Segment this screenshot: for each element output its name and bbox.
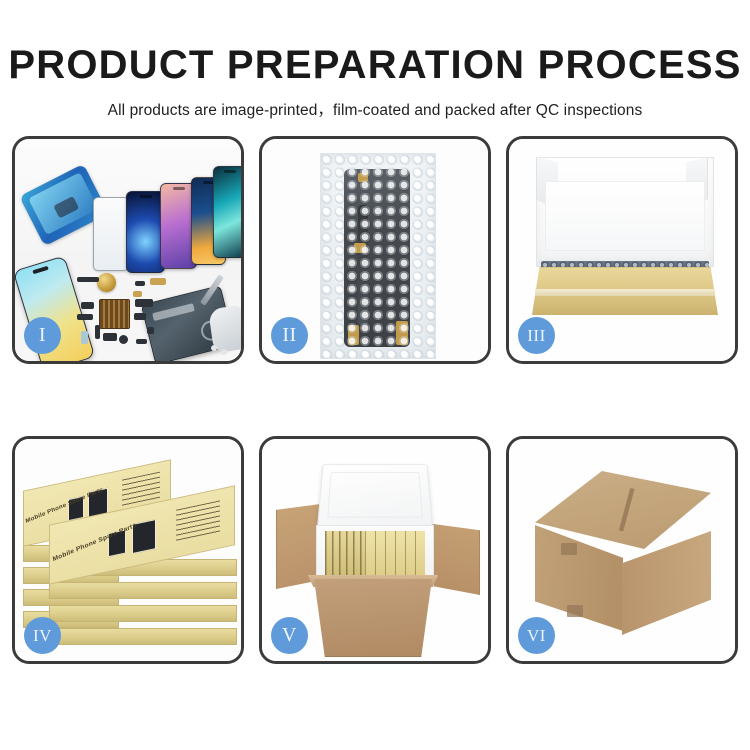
- flex-cable-part: [150, 278, 166, 285]
- small-part: [95, 325, 100, 339]
- chip-grid-part: [99, 299, 130, 329]
- small-part: [134, 313, 146, 320]
- box-side: [49, 628, 237, 645]
- screw-part: [211, 345, 217, 351]
- camera-lens-part: [119, 335, 128, 344]
- step-badge-3: III: [518, 317, 555, 354]
- connector-tab: [354, 243, 366, 253]
- small-part: [135, 299, 153, 307]
- packed-retail-boxes: [325, 531, 425, 577]
- connector-tab: [396, 321, 408, 345]
- kraft-tray-lip: [535, 289, 715, 296]
- header: PRODUCT PREPARATION PROCESS All products…: [0, 0, 750, 120]
- connector-tab: [348, 325, 359, 345]
- flex-cable-part: [133, 291, 142, 297]
- step-panel-4[interactable]: Mobile Phone Spare Parts Mobile Phone Sp…: [12, 436, 244, 664]
- small-part: [81, 331, 88, 344]
- page-title: PRODUCT PREPARATION PROCESS: [0, 44, 750, 86]
- tape-patch: [561, 543, 577, 555]
- box-side: [49, 605, 237, 622]
- phone-display-4: [213, 166, 241, 258]
- step-badge-2: II: [271, 317, 308, 354]
- product-preparation-infographic: PRODUCT PREPARATION PROCESS All products…: [0, 0, 750, 750]
- foam-insert: [545, 181, 705, 251]
- carton-flap-right: [426, 523, 480, 595]
- small-part: [136, 339, 147, 344]
- step-badge-1: I: [24, 317, 61, 354]
- step-panel-5[interactable]: V: [259, 436, 491, 664]
- foam-box-lid: [317, 464, 433, 527]
- box-spec-lines: [176, 500, 220, 543]
- step-panel-1[interactable]: I: [12, 136, 244, 364]
- process-steps-grid: I II: [12, 136, 738, 692]
- step-badge-4: IV: [24, 617, 61, 654]
- small-part: [147, 327, 154, 334]
- small-part: [135, 281, 145, 286]
- small-part: [77, 277, 99, 282]
- step-panel-2[interactable]: II: [259, 136, 491, 364]
- screw-part: [221, 349, 227, 355]
- step-badge-6: VI: [518, 617, 555, 654]
- tape-patch: [567, 605, 583, 617]
- tempered-glass-sheet: [93, 197, 129, 271]
- small-part: [77, 314, 93, 320]
- carton-body: [306, 579, 440, 657]
- box-side: [49, 582, 237, 599]
- step-panel-3[interactable]: III: [506, 136, 738, 364]
- step-badge-5: V: [271, 617, 308, 654]
- page-subtitle: All products are image-printed，film-coat…: [0, 98, 750, 120]
- small-part: [103, 333, 117, 341]
- connector-tab: [358, 173, 368, 182]
- vibration-motor-part: [97, 273, 116, 292]
- step-panel-6[interactable]: VI: [506, 436, 738, 664]
- small-part: [81, 302, 94, 309]
